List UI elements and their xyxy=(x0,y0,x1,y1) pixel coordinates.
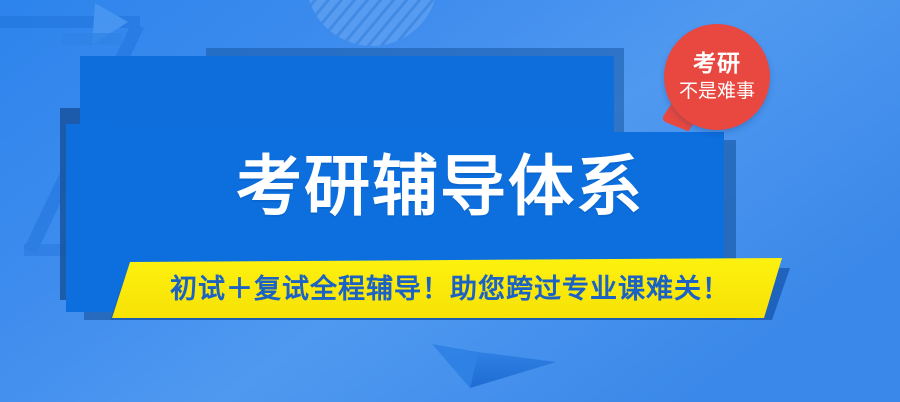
speech-bubble-badge: 考研 不是难事 xyxy=(664,24,770,130)
page-title: 考研辅导体系 xyxy=(236,148,644,224)
block-left-notch xyxy=(66,124,120,312)
speech-bubble-line-1: 考研 xyxy=(693,48,741,78)
promo-banner: 考研辅导体系 初试＋复试全程辅导！助您跨过专业课难关！ 考研 不是难事 xyxy=(0,0,900,402)
speech-bubble-line-2: 不是难事 xyxy=(679,78,755,106)
ribbon-yellow xyxy=(112,258,782,318)
speech-bubble-text: 考研 不是难事 xyxy=(664,24,770,130)
